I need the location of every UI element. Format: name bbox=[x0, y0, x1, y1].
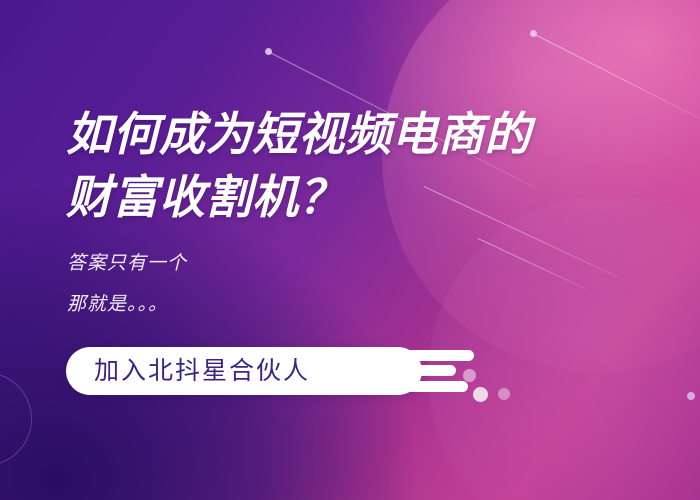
cta-dot-3 bbox=[498, 388, 510, 400]
cta-dot-2 bbox=[473, 387, 488, 402]
cta-group: 加入北抖星合伙人 bbox=[66, 347, 486, 395]
headline-line-2: 财富收割机？ bbox=[66, 166, 626, 229]
decor-dot-2 bbox=[530, 30, 537, 37]
decor-dot-1 bbox=[265, 48, 272, 55]
cta-bar-2 bbox=[406, 365, 456, 376]
headline: 如何成为短视频电商的 财富收割机？ bbox=[66, 103, 626, 230]
subtitle-line-1: 答案只有一个 bbox=[67, 244, 187, 285]
headline-line-1: 如何成为短视频电商的 bbox=[66, 103, 626, 166]
decor-dot-5 bbox=[687, 392, 695, 400]
cta-bar-1 bbox=[406, 350, 474, 361]
join-partner-button-label: 加入北抖星合伙人 bbox=[94, 347, 310, 395]
promo-banner: 如何成为短视频电商的 财富收割机？ 答案只有一个 那就是。。。 加入北抖星合伙人 bbox=[0, 0, 700, 500]
decor-line-4 bbox=[478, 238, 587, 290]
subtitle: 答案只有一个 那就是。。。 bbox=[67, 244, 187, 326]
background-ring-outline bbox=[0, 372, 32, 466]
cta-bar-3 bbox=[406, 381, 468, 392]
subtitle-line-2: 那就是。。。 bbox=[67, 285, 187, 326]
cta-dot-1 bbox=[463, 369, 476, 382]
